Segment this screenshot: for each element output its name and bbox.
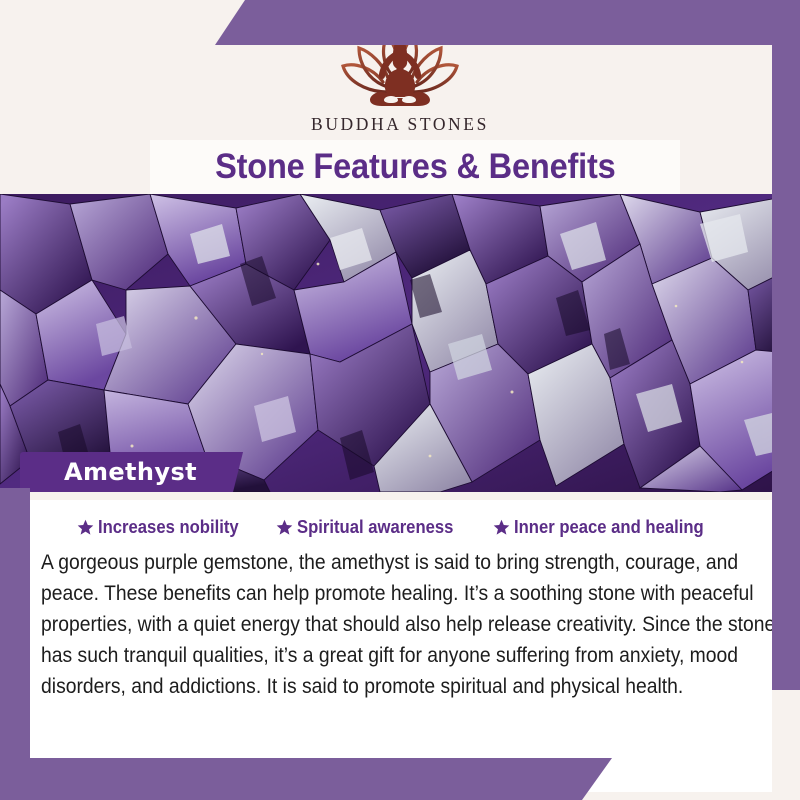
brand-name: BUDDHA STONES [311,114,489,135]
star-icon [77,519,94,536]
feature-label: Increases nobility [98,516,239,538]
frame-border-left [0,488,30,800]
stone-name-label: Amethyst [64,458,197,486]
frame-border-top [215,0,800,45]
stone-photo [0,194,800,492]
title-band: Stone Features & Benefits [150,140,680,194]
feature-label: Inner peace and healing [514,516,704,538]
feature-list: Increases nobility Spiritual awareness I… [30,500,772,538]
feature-item-1: Increases nobility [77,516,254,538]
feature-label: Spiritual awareness [297,516,453,538]
feature-item-3: Inner peace and healing [493,516,725,538]
content-panel: Increases nobility Spiritual awareness I… [30,500,772,792]
stone-description: A gorgeous purple gemstone, the amethyst… [30,547,795,702]
stone-name-banner: Amethyst [20,452,243,492]
feature-item-2: Spiritual awareness [276,516,471,538]
page-title: Stone Features & Benefits [215,147,616,187]
star-icon [276,519,293,536]
frame-border-right [772,0,800,690]
star-icon [493,519,510,536]
frame-border-bottom [0,758,612,800]
amethyst-crystal-cluster-image [0,194,800,492]
content-area: Increases nobility Spiritual awareness I… [0,492,800,800]
product-info-card: BUDDHA STONES Stone Features & Benefits [0,0,800,800]
